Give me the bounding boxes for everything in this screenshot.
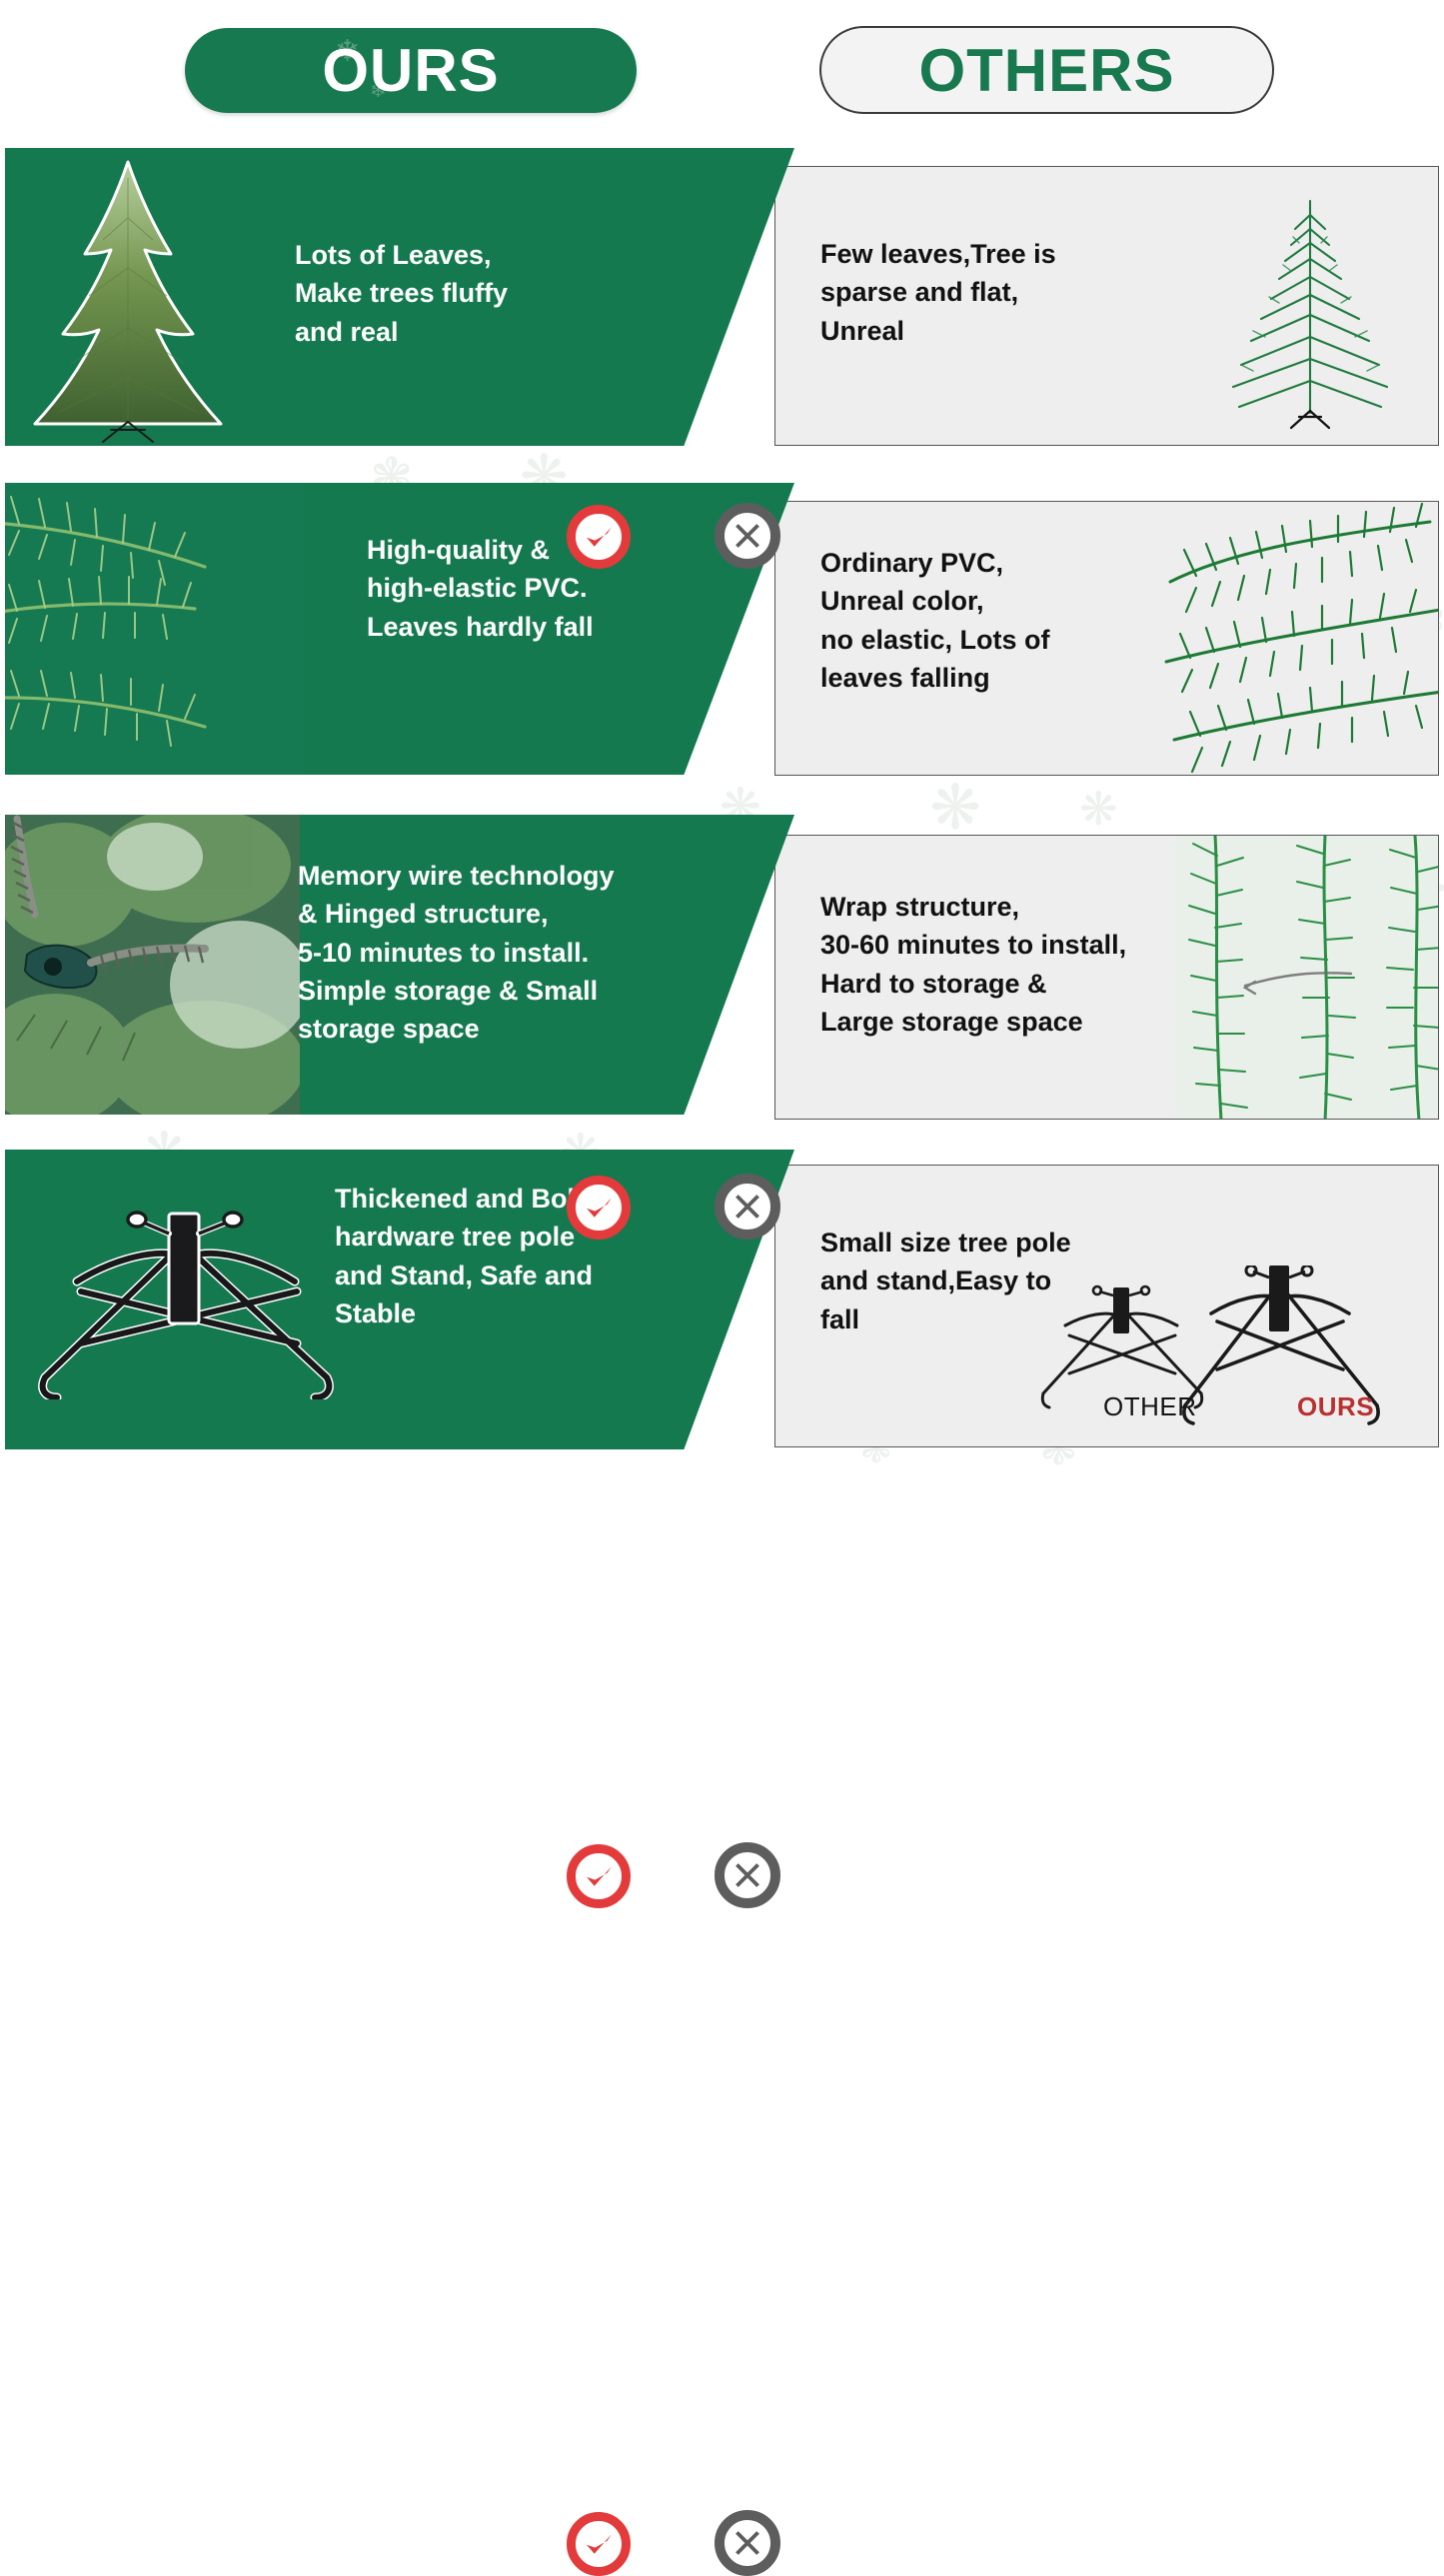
comparison-row-leaves: Few leaves,Tree is sparse and flat, Unre… — [0, 148, 1444, 448]
check-circle-icon — [567, 505, 631, 569]
others-text-leaves: Few leaves,Tree is sparse and flat, Unre… — [820, 235, 1180, 350]
x-glyph — [730, 2526, 764, 2560]
flat-pvc-branch-image — [1160, 502, 1439, 776]
x-glyph — [730, 1190, 764, 1224]
hinged-memory-wire-branch-image — [5, 815, 300, 1115]
realistic-pine-branch-image — [5, 483, 305, 775]
dense-christmas-tree-image — [23, 158, 233, 446]
check-circle-icon — [567, 1844, 631, 1908]
ours-text-stand: Thickened and Bold hardware tree pole an… — [335, 1180, 695, 1332]
others-panel-material: Ordinary PVC, Unreal color, no elastic, … — [774, 501, 1439, 776]
check-circle-icon — [567, 1176, 631, 1240]
ours-panel-stand: Thickened and Bold hardware tree pole an… — [5, 1150, 794, 1449]
ours-text-leaves: Lots of Leaves, Make trees fluffy and re… — [295, 236, 655, 351]
check-glyph — [581, 519, 617, 555]
wrapped-branch-pole-image — [1175, 836, 1439, 1120]
others-panel-leaves: Few leaves,Tree is sparse and flat, Unre… — [774, 166, 1439, 446]
stand-label-other: OTHER — [1103, 1391, 1197, 1422]
stand-label-ours: OURS — [1297, 1391, 1374, 1422]
check-glyph — [581, 2526, 617, 2562]
ours-text-material: High-quality & high-elastic PVC. Leaves … — [367, 531, 726, 646]
ours-panel-material: High-quality & high-elastic PVC. Leaves … — [5, 483, 794, 775]
comparison-row-structure: Wrap structure, 30-60 minutes to install… — [0, 815, 1444, 1120]
x-glyph — [730, 1858, 764, 1892]
ours-header-label: OURS — [322, 36, 499, 105]
x-circle-icon — [715, 503, 780, 569]
x-glyph — [730, 519, 764, 553]
ours-panel-structure: Memory wire technology & Hinged structur… — [5, 815, 794, 1115]
x-circle-icon — [715, 1174, 780, 1240]
x-circle-icon — [715, 2510, 780, 2576]
ours-text-structure: Memory wire technology & Hinged structur… — [298, 857, 698, 1049]
others-panel-structure: Wrap structure, 30-60 minutes to install… — [774, 835, 1439, 1120]
check-glyph — [581, 1190, 617, 1226]
others-text-structure: Wrap structure, 30-60 minutes to install… — [820, 888, 1220, 1041]
x-circle-icon — [715, 1842, 780, 1908]
others-header-label: OTHERS — [918, 36, 1174, 105]
others-panel-stand: Small size tree pole and stand,Easy to f… — [774, 1165, 1439, 1447]
others-header-pill: OTHERS — [819, 26, 1274, 114]
sparse-christmas-tree-image — [1195, 185, 1425, 435]
header: ❄ ❄ OURS OTHERS — [0, 0, 1444, 145]
check-glyph — [581, 1858, 617, 1894]
others-text-material: Ordinary PVC, Unreal color, no elastic, … — [820, 544, 1200, 697]
heavy-duty-metal-tree-stand-image — [15, 1210, 355, 1399]
ours-header-pill: ❄ ❄ OURS — [185, 28, 637, 113]
ours-panel-leaves: Lots of Leaves, Make trees fluffy and re… — [5, 148, 794, 446]
check-circle-icon — [567, 2512, 631, 2576]
